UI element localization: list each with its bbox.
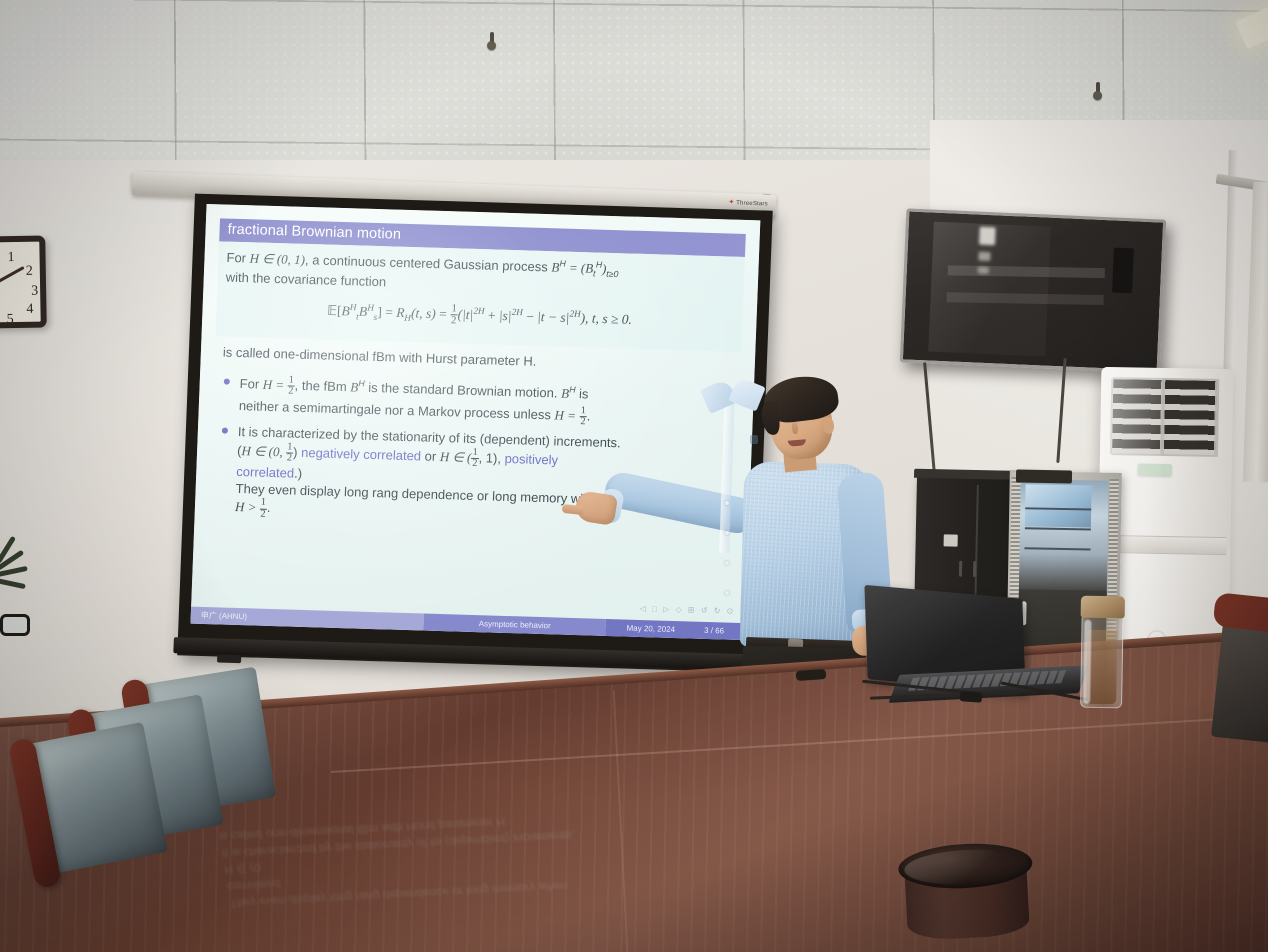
intro-tailsub: t≥0: [606, 269, 619, 279]
slide-footer-title: Asymptotic behavior: [423, 614, 606, 636]
chair-backrest-pad: [1211, 617, 1268, 747]
clock-number: 4: [26, 302, 33, 318]
formula-term2-sup: 2H: [512, 307, 524, 317]
bullet-dot-icon: [224, 378, 230, 384]
shirt-button: [725, 591, 729, 595]
formula-minus: −: [526, 309, 534, 324]
formula-condition: t, s ≥ 0.: [592, 311, 633, 327]
presenter-hair-side: [760, 400, 780, 436]
bottle-wood-cap: [1081, 596, 1125, 619]
plant-leaf: [0, 578, 26, 589]
formula-term2: |s|: [499, 308, 512, 323]
meeting-room-photo: 1 2 3 4 5 ✦ ThreeStars fractional Browni…: [0, 0, 1268, 952]
shirt-logo-icon: [750, 435, 758, 444]
formula-term1: (|t|: [457, 307, 473, 322]
shirt-button: [725, 531, 729, 535]
sprinkler-icon: [1092, 82, 1103, 102]
tv-speaker-icon: [1112, 247, 1134, 293]
rack-handle[interactable]: [973, 561, 976, 577]
formula-rh-args: (t, s): [411, 305, 436, 321]
presenter-nose: [791, 422, 798, 434]
b2-blue1: negatively correlated: [301, 445, 421, 464]
rack-label-tag: [944, 534, 958, 546]
screen-weight-bar: [217, 654, 241, 663]
b1-a: For: [239, 376, 263, 392]
wall-clock: 1 2 3 4 5: [0, 235, 47, 328]
shirt-button: [725, 501, 729, 505]
slide-footer-author: 申广 (AHNU): [190, 607, 423, 631]
clock-number: 3: [31, 284, 38, 300]
slide-block-body: For H ∈ (0, 1), a continuous centered Ga…: [216, 241, 745, 351]
clock-number: 1: [7, 250, 14, 266]
laptop[interactable]: [856, 592, 1086, 704]
b2-math5: H >: [235, 499, 260, 515]
list-item: For H = 12, the fBm BH is the standard B…: [238, 374, 739, 432]
tv-light-glint: [979, 226, 996, 245]
b2-post: , 1),: [478, 450, 505, 466]
screen-brand-label: ✦ ThreeStars: [728, 198, 768, 207]
b2-line5-post: .: [267, 500, 271, 515]
plant-leaf: [0, 566, 28, 577]
intro-eq: = (B: [565, 260, 593, 276]
clock-number: 2: [26, 264, 33, 280]
b2-blue3: correlated: [236, 463, 294, 480]
presentation-clicker[interactable]: [796, 669, 827, 681]
b2-blue2: positively: [504, 451, 558, 468]
b2-math1: H ∈ (0,: [241, 443, 286, 459]
formula-eq1: =: [385, 305, 393, 320]
intro-pre: For: [226, 250, 250, 266]
formula-close: ),: [580, 310, 588, 325]
wall-mounted-tv: [900, 208, 1166, 373]
formula-plus: +: [488, 308, 496, 323]
tea-bottle: [1077, 596, 1127, 709]
sprinkler-icon: [486, 32, 497, 52]
tv-light-glint: [978, 252, 990, 262]
foreground-cylinder-object: [897, 841, 1036, 952]
eyeglass-lens: [0, 614, 30, 636]
window-reflection: [1025, 484, 1092, 527]
star-icon: ✦: [728, 199, 734, 206]
cabinet-top-box: [1016, 470, 1072, 484]
b1-b: , the fBm: [294, 377, 350, 394]
b1-d: is: [575, 386, 589, 401]
formula-term3-sup: 2H: [569, 309, 581, 319]
b2-line3-post: .): [294, 465, 303, 480]
formula-bs: B: [359, 304, 368, 319]
intro-sub: t: [593, 268, 596, 278]
screen-brand-text: ThreeStars: [736, 200, 768, 207]
clock-hand: [0, 266, 24, 285]
formula-term1-sup: 2H: [473, 306, 485, 316]
rack-handle[interactable]: [959, 561, 962, 577]
cable-dongle: [960, 691, 983, 703]
bullet-dot-icon: [222, 428, 228, 434]
covariance-formula: 𝔼[BHtBHs] = RH(t, s) = 12(|t|2H + |s|2H …: [224, 297, 735, 335]
b2-math2: H ∈ (: [440, 449, 472, 465]
bottle-highlight: [1083, 620, 1091, 704]
tv-light-glint: [978, 266, 989, 273]
formula-term3: |t − s|: [537, 309, 570, 325]
intro-math: H ∈ (0, 1): [249, 251, 305, 268]
eyeglasses: [0, 610, 42, 640]
shirt-button: [725, 561, 729, 565]
b1-math: H =: [263, 376, 288, 392]
b1-c: is the standard Brownian motion.: [364, 379, 561, 400]
formula-eq2: =: [439, 306, 447, 321]
clock-number: 5: [7, 312, 14, 328]
b2-or: or: [421, 448, 440, 464]
